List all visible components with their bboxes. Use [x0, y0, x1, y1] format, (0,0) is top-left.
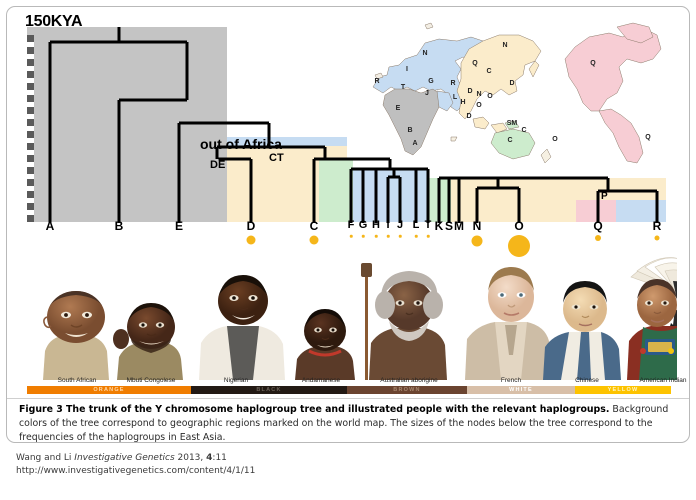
skin-color-segment-yellow: YELLOW — [575, 386, 671, 394]
citation-year: 2013, — [175, 453, 207, 463]
haplogroup-label-G: G — [359, 219, 368, 231]
haplogroup-label-H: H — [372, 219, 380, 231]
haplogroup-label-K: K — [435, 219, 444, 233]
figure-caption: Figure 3 The trunk of the Y chromosome h… — [19, 403, 679, 443]
citation-issue: :11 — [212, 453, 226, 463]
skin-color-segment-white: WHITE — [467, 386, 575, 394]
citation-authors: Wang and Li — [16, 453, 74, 463]
node-label-p: P — [601, 191, 608, 202]
person-andamanese — [295, 309, 355, 380]
skin-color-label: BROWN — [347, 386, 467, 394]
person-name-label: Mbuti Congolese — [127, 377, 176, 384]
skin-color-segment-black: BLACK — [191, 386, 347, 394]
haplogroup-label-N: N — [473, 219, 482, 233]
haplogroup-label-M: M — [454, 219, 464, 233]
haplogroup-label-O: O — [514, 219, 523, 233]
haplogroup-label-T: T — [425, 219, 432, 231]
haplogroup-tree-panel: RITGJNRLHEBANQCDNOODDSMCCOQQ — [7, 7, 690, 245]
time-scale-label: 150KYA — [25, 13, 82, 31]
frequency-node-G — [362, 235, 365, 238]
figure-frame: RITGJNRLHEBANQCDNOODDSMCCOQQ — [6, 6, 690, 443]
frequency-node-D — [247, 235, 256, 244]
person-south-african — [43, 291, 109, 380]
frequency-node-Q — [595, 235, 601, 241]
person-name-label: Nigerian — [224, 377, 248, 384]
person-french — [465, 267, 551, 380]
node-label-de: DE — [210, 159, 225, 171]
haplogroup-label-R: R — [653, 219, 662, 233]
people-photo-panel: South AfricanMbuti CongoleseNigerianAnda… — [21, 247, 677, 395]
person-american-indian — [627, 258, 677, 380]
haplogroup-label-J: J — [397, 219, 403, 231]
frequency-node-H — [375, 235, 378, 238]
citation-url[interactable]: http://www.investigativegenetics.com/con… — [16, 465, 516, 478]
person-name-label: Andamanese — [302, 377, 340, 384]
people-illustrations — [21, 247, 677, 380]
person-name-label: Australian aborigine — [380, 377, 437, 384]
haplogroup-label-E: E — [175, 219, 183, 233]
skin-color-label: YELLOW — [575, 386, 671, 394]
person-name-label: American Indian — [640, 377, 687, 384]
frequency-node-F — [350, 235, 353, 238]
person-australian-aborigine — [361, 263, 447, 380]
frequency-node-N — [472, 235, 483, 246]
haplogroup-label-L: L — [413, 219, 420, 231]
frequency-node-T — [427, 235, 430, 238]
skin-color-segment-orange: ORANGE — [27, 386, 191, 394]
person-nigerian — [199, 275, 285, 380]
frequency-node-I — [387, 235, 390, 238]
out-of-africa-label: out of Africa — [200, 136, 282, 152]
haplogroup-label-B: B — [115, 219, 124, 233]
frequency-node-R — [655, 235, 660, 240]
figure-footer: Wang and Li Investigative Genetics 2013,… — [16, 452, 516, 478]
person-mbuti-congolese — [113, 303, 183, 380]
haplogroup-label-F: F — [348, 219, 355, 231]
skin-color-label: BLACK — [191, 386, 347, 394]
citation-line: Wang and Li Investigative Genetics 2013,… — [16, 452, 516, 465]
figure-page: RITGJNRLHEBANQCDNOODDSMCCOQQ — [0, 0, 696, 500]
node-label-ct: CT — [269, 152, 284, 164]
skin-color-label: ORANGE — [27, 386, 191, 394]
tree-lines — [7, 7, 690, 227]
haplogroup-label-I: I — [386, 219, 389, 231]
person-name-label: French — [501, 377, 521, 384]
citation-journal: Investigative Genetics — [74, 453, 174, 463]
haplogroup-label-Q: Q — [593, 219, 602, 233]
person-name-label: Chinese — [575, 377, 599, 384]
caption-title: Figure 3 The trunk of the Y chromosome h… — [19, 404, 609, 415]
skin-color-bar: ORANGEBLACKBROWNWHITEYELLOW — [27, 386, 671, 394]
skin-color-label: WHITE — [467, 386, 575, 394]
person-chinese — [543, 281, 621, 380]
person-name-label: South African — [58, 377, 97, 384]
haplogroup-label-S: S — [445, 219, 453, 233]
haplogroup-label-C: C — [310, 219, 319, 233]
frequency-node-J — [399, 235, 402, 238]
haplogroup-label-A: A — [46, 219, 55, 233]
skin-color-segment-brown: BROWN — [347, 386, 467, 394]
people-photo-row: South AfricanMbuti CongoleseNigerianAnda… — [21, 247, 677, 380]
frequency-node-C — [310, 235, 319, 244]
frequency-node-L — [415, 235, 418, 238]
haplogroup-label-D: D — [247, 219, 256, 233]
caption-divider — [7, 398, 690, 399]
